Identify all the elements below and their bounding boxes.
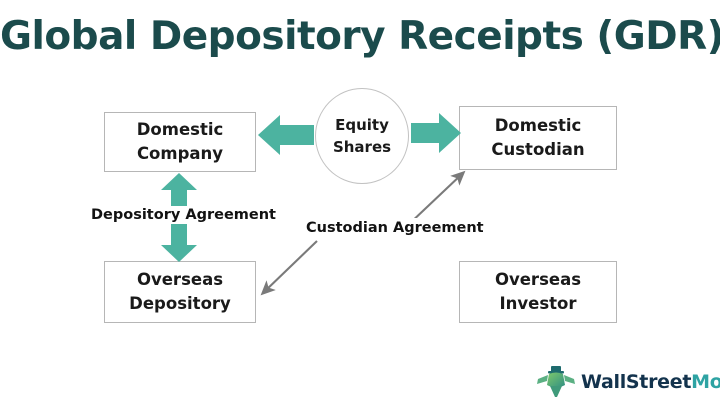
wallstreetmojo-bull-icon <box>535 363 577 401</box>
node-overseas-depository-line1: Overseas <box>137 268 223 292</box>
node-overseas-investor: Overseas Investor <box>459 261 617 323</box>
logo-text-primary: WallStreet <box>581 371 691 393</box>
node-domestic-custodian-line1: Domestic <box>495 114 582 138</box>
node-overseas-depository-line2: Depository <box>129 292 231 316</box>
node-equity-shares-line2: Shares <box>333 136 391 159</box>
arrow-right-icon <box>411 110 461 156</box>
logo-text-accent: Mojo <box>691 371 720 393</box>
node-overseas-depository: Overseas Depository <box>104 261 256 323</box>
page-title: Global Depository Receipts (GDR) <box>0 14 720 59</box>
node-overseas-investor-line1: Overseas <box>495 268 581 292</box>
node-domestic-company-line1: Domestic <box>137 118 224 142</box>
node-domestic-custodian-line2: Custodian <box>491 138 584 162</box>
wallstreetmojo-logo: WallStreetMojo <box>535 362 715 402</box>
node-overseas-investor-line2: Investor <box>499 292 576 316</box>
logo-wordmark: WallStreetMojo <box>581 371 720 393</box>
diagram-canvas: Global Depository Receipts (GDR) Domesti… <box>0 0 720 409</box>
arrow-down-icon <box>158 224 200 262</box>
arrow-left-icon <box>258 112 314 158</box>
node-domestic-company: Domestic Company <box>104 112 256 172</box>
arrow-up-icon <box>158 173 200 209</box>
node-domestic-custodian: Domestic Custodian <box>459 106 617 170</box>
node-domestic-company-line2: Company <box>137 142 223 166</box>
edge-label-custodian-agreement: Custodian Agreement <box>301 218 489 238</box>
edge-label-depository-agreement: Depository Agreement <box>88 206 279 224</box>
node-equity-shares-line1: Equity <box>335 114 389 137</box>
